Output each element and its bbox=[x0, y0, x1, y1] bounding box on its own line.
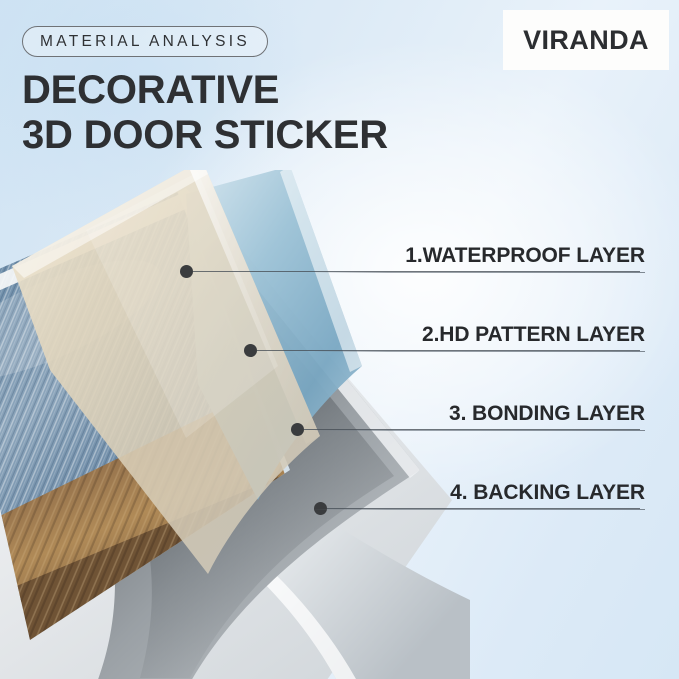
callout-bonding: 3. BONDING LAYER bbox=[315, 401, 645, 431]
infographic-canvas: MATERIAL ANALYSIS DECORATIVE 3D DOOR STI… bbox=[0, 0, 679, 679]
callout-label-waterproof: 1.WATERPROOF LAYER bbox=[315, 243, 645, 269]
callout-rule-waterproof bbox=[315, 272, 645, 273]
brand-name: VIRANDA bbox=[523, 25, 649, 56]
callout-rule-bonding bbox=[315, 430, 645, 431]
callout-rule-backing bbox=[315, 509, 645, 510]
brand-logo: VIRANDA bbox=[503, 10, 669, 70]
callout-hd-pattern: 2.HD PATTERN LAYER bbox=[315, 322, 645, 352]
callout-rule-hd-pattern bbox=[315, 351, 645, 352]
title-line-2: 3D DOOR STICKER bbox=[22, 113, 492, 158]
page-title: DECORATIVE 3D DOOR STICKER bbox=[22, 68, 492, 158]
callout-label-bonding: 3. BONDING LAYER bbox=[315, 401, 645, 427]
material-analysis-badge: MATERIAL ANALYSIS bbox=[22, 26, 268, 57]
callout-dot-bonding bbox=[291, 423, 304, 436]
callout-label-hd-pattern: 2.HD PATTERN LAYER bbox=[315, 322, 645, 348]
callout-backing: 4. BACKING LAYER bbox=[315, 480, 645, 510]
callout-label-backing: 4. BACKING LAYER bbox=[315, 480, 645, 506]
callout-waterproof: 1.WATERPROOF LAYER bbox=[315, 243, 645, 273]
callout-dot-hd-pattern bbox=[244, 344, 257, 357]
badge-label: MATERIAL ANALYSIS bbox=[40, 33, 250, 51]
title-line-1: DECORATIVE bbox=[22, 68, 492, 113]
callout-dot-waterproof bbox=[180, 265, 193, 278]
